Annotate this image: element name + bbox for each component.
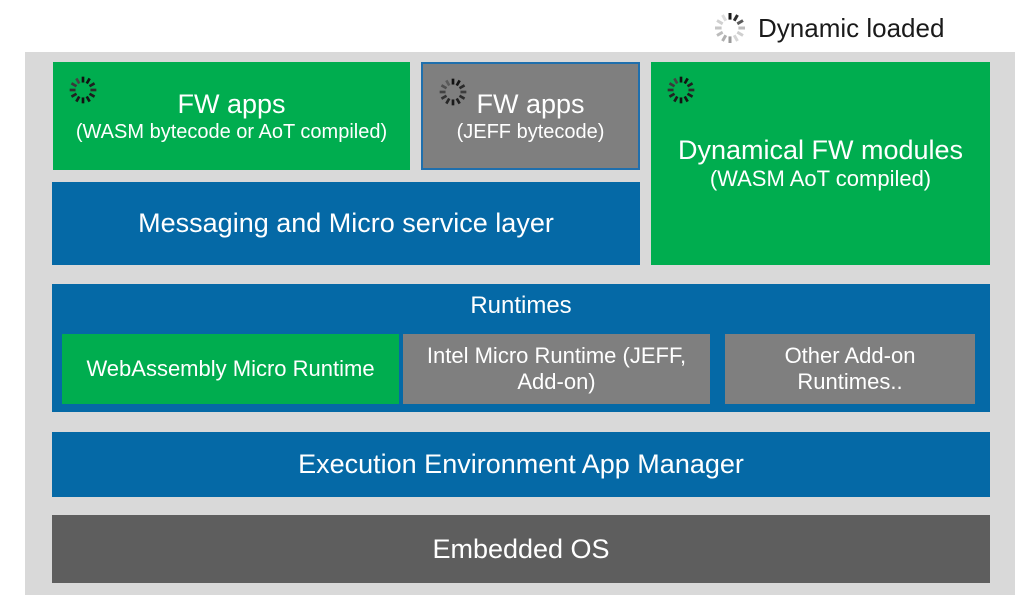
block-subtitle: (WASM AoT compiled) xyxy=(710,167,931,192)
block-title: FW apps xyxy=(177,89,285,119)
runtimes-title: Runtimes xyxy=(52,284,990,328)
runtimes-list: WebAssembly Micro Runtime Intel Micro Ru… xyxy=(52,328,990,412)
spinner-icon xyxy=(712,10,748,46)
legend: Dynamic loaded xyxy=(712,6,944,50)
block-fw-apps-jeff: FW apps (JEFF bytecode) xyxy=(421,62,640,170)
legend-label: Dynamic loaded xyxy=(758,15,944,41)
spinner-icon xyxy=(437,76,469,108)
runtime-item-intel-micro-runtime: Intel Micro Runtime (JEFF, Add-on) xyxy=(403,334,710,404)
block-subtitle: (JEFF bytecode) xyxy=(457,121,605,143)
block-title: FW apps xyxy=(476,89,584,119)
architecture-diagram: Dynamic loaded xyxy=(0,0,1036,613)
block-runtimes: Runtimes WebAssembly Micro Runtime Intel… xyxy=(52,284,990,412)
block-execution-environment-app-manager: Execution Environment App Manager xyxy=(52,432,990,497)
spinner-icon xyxy=(665,74,697,106)
runtime-item-webassembly-micro-runtime: WebAssembly Micro Runtime xyxy=(62,334,399,404)
block-embedded-os: Embedded OS xyxy=(52,515,990,583)
block-subtitle: (WASM bytecode or AoT compiled) xyxy=(76,121,387,143)
spinner-icon xyxy=(67,74,99,106)
runtime-item-other-add-on-runtimes: Other Add-on Runtimes.. xyxy=(725,334,975,404)
block-title: Embedded OS xyxy=(432,534,609,564)
block-title: Messaging and Micro service layer xyxy=(138,208,554,238)
block-fw-apps-wasm: FW apps (WASM bytecode or AoT compiled) xyxy=(53,62,410,170)
block-messaging-layer: Messaging and Micro service layer xyxy=(52,182,640,265)
block-title: Execution Environment App Manager xyxy=(298,449,744,479)
block-dynamical-fw-modules: Dynamical FW modules (WASM AoT compiled) xyxy=(651,62,990,265)
block-title: Dynamical FW modules xyxy=(678,135,963,165)
